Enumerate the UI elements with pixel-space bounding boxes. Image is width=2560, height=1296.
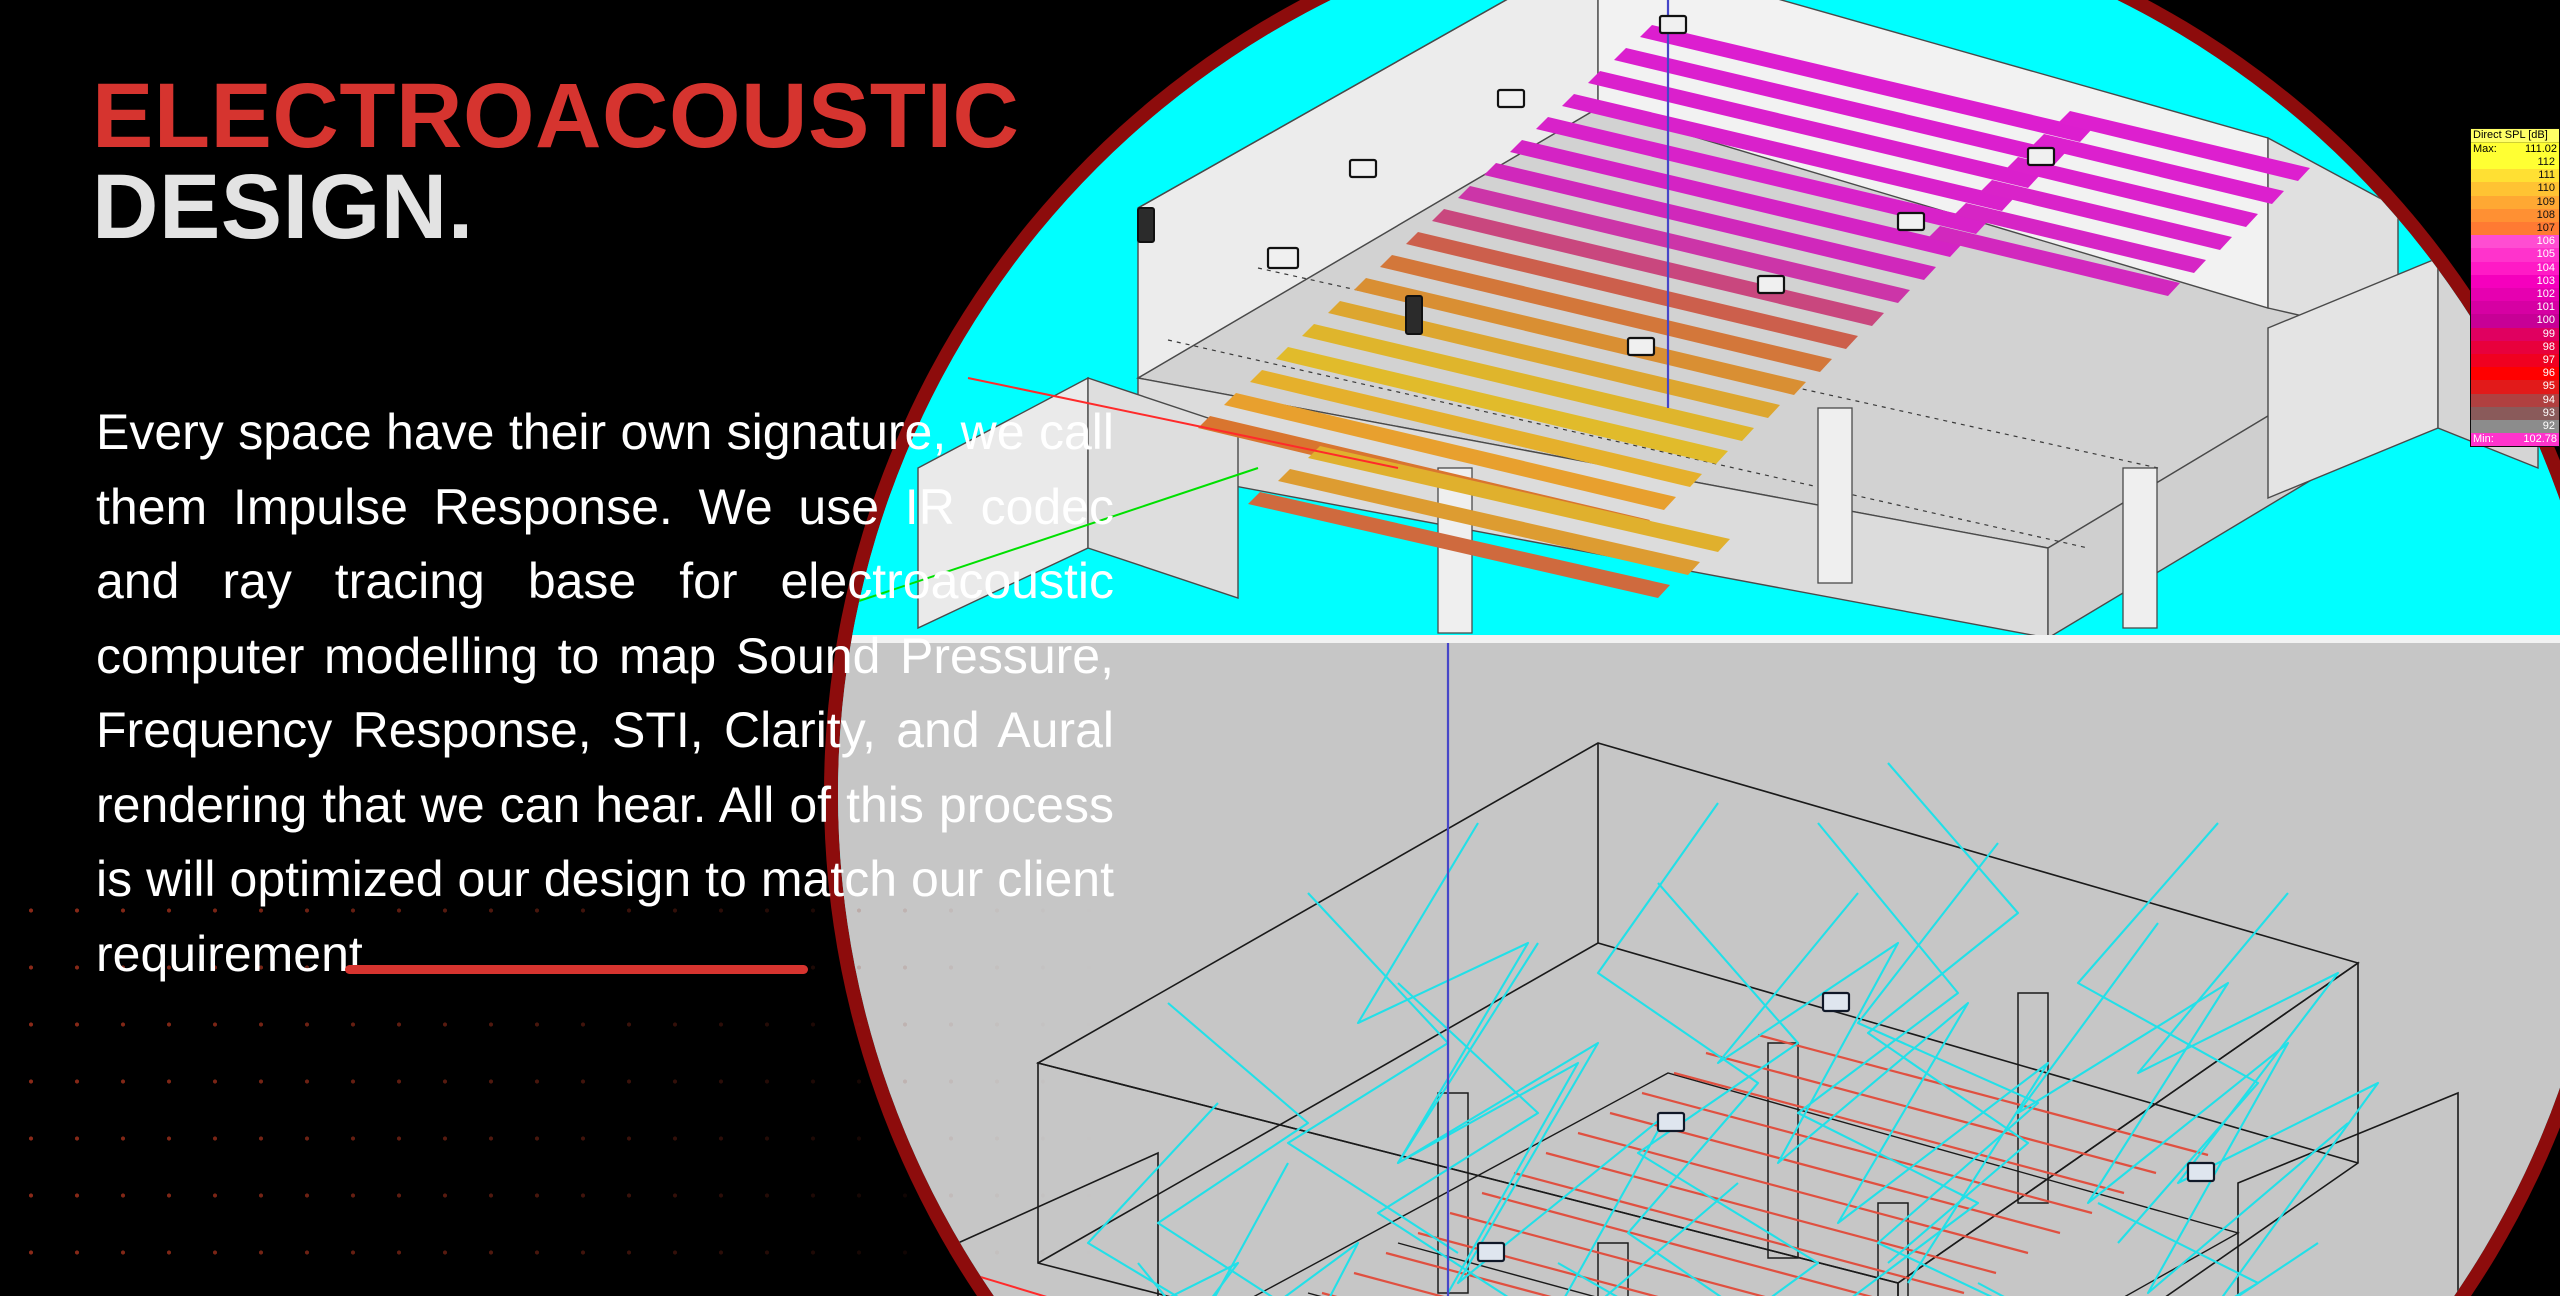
legend-band: 93: [2471, 407, 2559, 420]
legend-band: 94: [2471, 394, 2559, 407]
legend-band: 106: [2471, 235, 2559, 248]
legend-band: 98: [2471, 341, 2559, 354]
legend-min-row: Min: 102.78: [2471, 433, 2559, 446]
spl-colour-legend: Direct SPL [dB] Max: 111.02 112111110109…: [2470, 128, 2560, 447]
legend-max-row: Max: 111.02: [2471, 143, 2559, 156]
legend-colour-bands: 1121111101091081071061051041031021011009…: [2471, 156, 2559, 433]
legend-band: 112: [2471, 156, 2559, 169]
legend-max-label: Max:: [2473, 143, 2497, 156]
legend-min-value: 102.78: [2523, 433, 2557, 446]
legend-band: 105: [2471, 248, 2559, 261]
legend-band: 100: [2471, 314, 2559, 327]
legend-band: 102: [2471, 288, 2559, 301]
headline-line-2: DESIGN.: [92, 161, 1112, 255]
legend-max-value: 111.02: [2525, 143, 2557, 156]
legend-band: 96: [2471, 367, 2559, 380]
legend-band: 108: [2471, 209, 2559, 222]
legend-band: 109: [2471, 196, 2559, 209]
body-paragraph: Every space have their own signature, we…: [96, 395, 1114, 991]
red-divider-rule: [345, 965, 808, 974]
legend-band: 104: [2471, 262, 2559, 275]
legend-band: 92: [2471, 420, 2559, 433]
legend-band: 95: [2471, 380, 2559, 393]
legend-band: 97: [2471, 354, 2559, 367]
legend-band: 110: [2471, 182, 2559, 195]
legend-band: 107: [2471, 222, 2559, 235]
legend-band: 111: [2471, 169, 2559, 182]
legend-band: 101: [2471, 301, 2559, 314]
slide-canvas: Direct SPL [dB] Max: 111.02 112111110109…: [0, 0, 2560, 1296]
text-panel: ELECTROACOUSTIC DESIGN. Every space have…: [0, 0, 1180, 1296]
render-panel: Direct SPL [dB] Max: 111.02 112111110109…: [1180, 0, 2560, 1296]
page-title: ELECTROACOUSTIC DESIGN.: [92, 72, 1112, 255]
legend-min-label: Min:: [2473, 433, 2494, 446]
legend-band: 103: [2471, 275, 2559, 288]
legend-title: Direct SPL [dB]: [2471, 129, 2559, 143]
legend-band: 99: [2471, 328, 2559, 341]
headline-line-1: ELECTROACOUSTIC: [92, 72, 1112, 161]
